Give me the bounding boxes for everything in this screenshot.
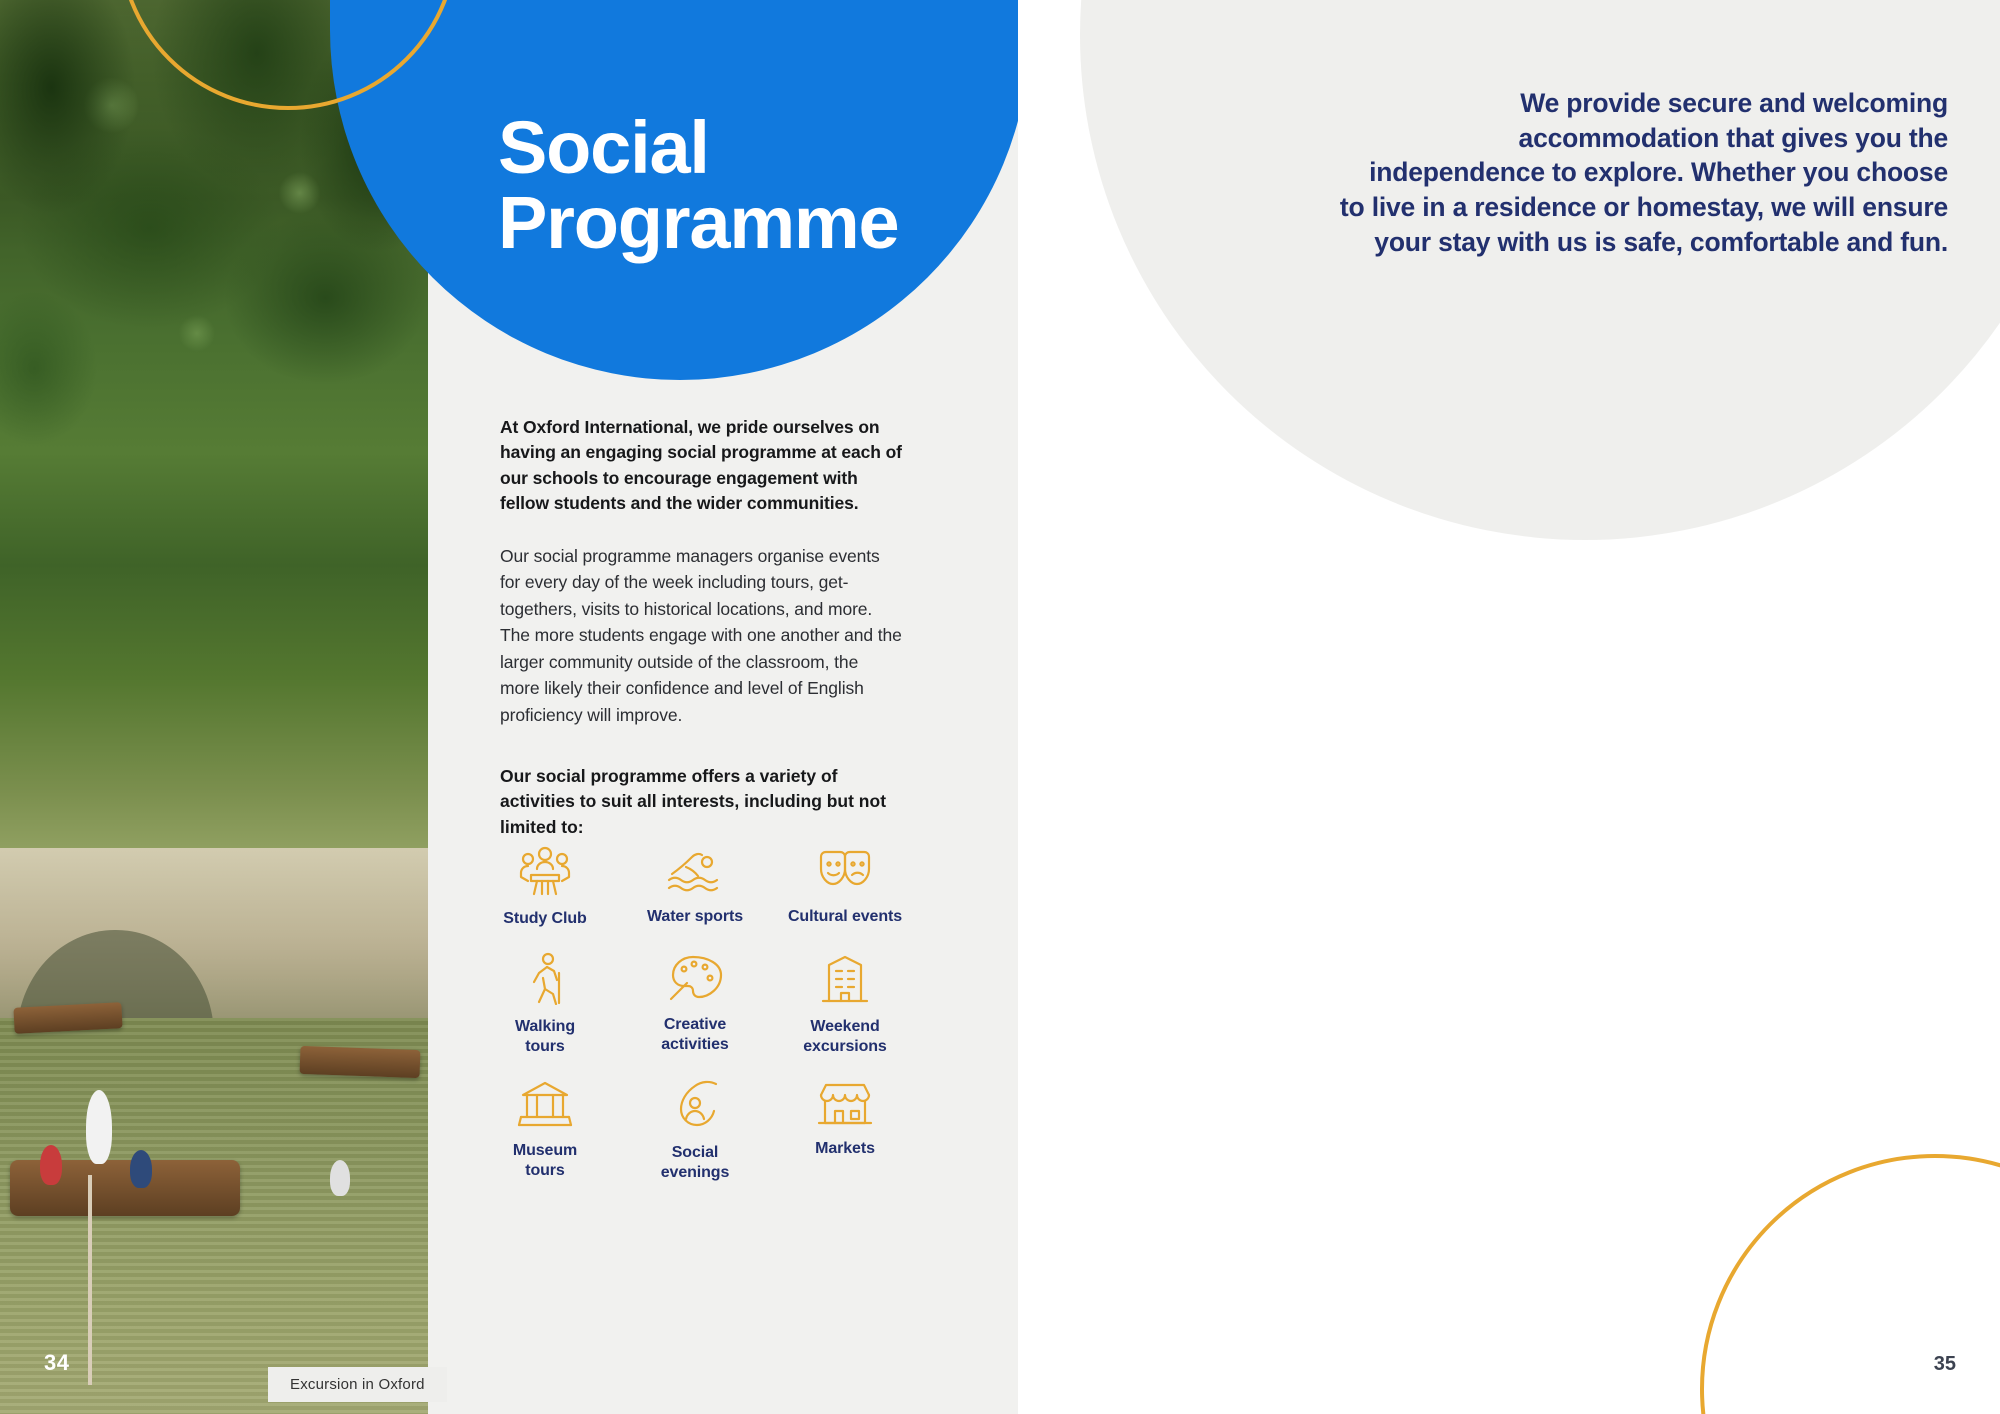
passenger-figure bbox=[130, 1150, 152, 1188]
page-title-line2: Programme bbox=[498, 181, 898, 264]
activity-item-cultural-events[interactable]: Cultural events bbox=[770, 845, 920, 929]
markets-icon bbox=[817, 1079, 873, 1127]
brochure-spread: Social Programme At Oxford International… bbox=[0, 0, 2000, 1414]
grey-circle-decoration bbox=[1080, 0, 2000, 540]
lead-paragraph: At Oxford International, we pride oursel… bbox=[500, 415, 902, 517]
left-page: Social Programme At Oxford International… bbox=[0, 0, 1018, 1414]
excursion-photo bbox=[0, 0, 428, 1414]
activity-item-social-evenings[interactable]: Socialevenings bbox=[620, 1079, 770, 1183]
activity-item-walking-tours[interactable]: Walkingtours bbox=[470, 951, 620, 1057]
cultural-events-icon bbox=[817, 845, 873, 895]
water-sports-icon bbox=[666, 845, 724, 895]
weekend-excursions-icon bbox=[819, 951, 871, 1005]
activity-item-weekend-excursions[interactable]: Weekendexcursions bbox=[770, 951, 920, 1057]
activity-item-water-sports[interactable]: Water sports bbox=[620, 845, 770, 929]
page-title-line1: Social bbox=[498, 106, 709, 189]
activity-label: Creativeactivities bbox=[661, 1015, 729, 1055]
right-page: We provide secure and welcoming accommod… bbox=[1018, 0, 2000, 1414]
punt-pole bbox=[88, 1175, 92, 1385]
museum-tours-icon bbox=[517, 1079, 573, 1129]
passenger-figure bbox=[330, 1160, 350, 1196]
accommodation-intro-headline: We provide secure and welcoming accommod… bbox=[1338, 86, 1948, 260]
activity-label: Walkingtours bbox=[515, 1017, 575, 1057]
punt-boat bbox=[300, 1046, 421, 1078]
activity-label: Museumtours bbox=[513, 1141, 577, 1181]
activity-item-study-club[interactable]: Study Club bbox=[470, 845, 620, 929]
passenger-figure bbox=[40, 1145, 62, 1185]
social-evenings-icon bbox=[669, 1079, 721, 1131]
activity-label: Weekendexcursions bbox=[803, 1017, 887, 1057]
left-text-column: At Oxford International, we pride oursel… bbox=[500, 415, 902, 729]
punter-figure bbox=[86, 1090, 112, 1164]
activity-item-museum-tours[interactable]: Museumtours bbox=[470, 1079, 620, 1183]
walking-tours-icon bbox=[521, 951, 569, 1005]
activity-item-creative-activities[interactable]: Creativeactivities bbox=[620, 951, 770, 1057]
photo-caption-excursion: Excursion in Oxford bbox=[268, 1367, 447, 1402]
creative-activities-icon bbox=[667, 951, 723, 1003]
activities-icon-grid: Study Club Water sports bbox=[470, 845, 920, 1183]
activity-label: Study Club bbox=[503, 909, 586, 929]
page-number-left: 34 bbox=[44, 1350, 69, 1376]
activity-label: Markets bbox=[815, 1139, 875, 1159]
activities-intro: Our social programme offers a variety of… bbox=[500, 764, 910, 840]
page-number-right: 35 bbox=[1934, 1353, 1956, 1376]
page-title: Social Programme bbox=[498, 110, 898, 261]
activity-item-markets[interactable]: Markets bbox=[770, 1079, 920, 1183]
activity-label: Water sports bbox=[647, 907, 743, 927]
activity-label: Cultural events bbox=[788, 907, 902, 927]
study-club-icon bbox=[517, 845, 573, 897]
body-paragraph: Our social programme managers organise e… bbox=[500, 543, 902, 729]
activity-label: Socialevenings bbox=[661, 1143, 730, 1183]
